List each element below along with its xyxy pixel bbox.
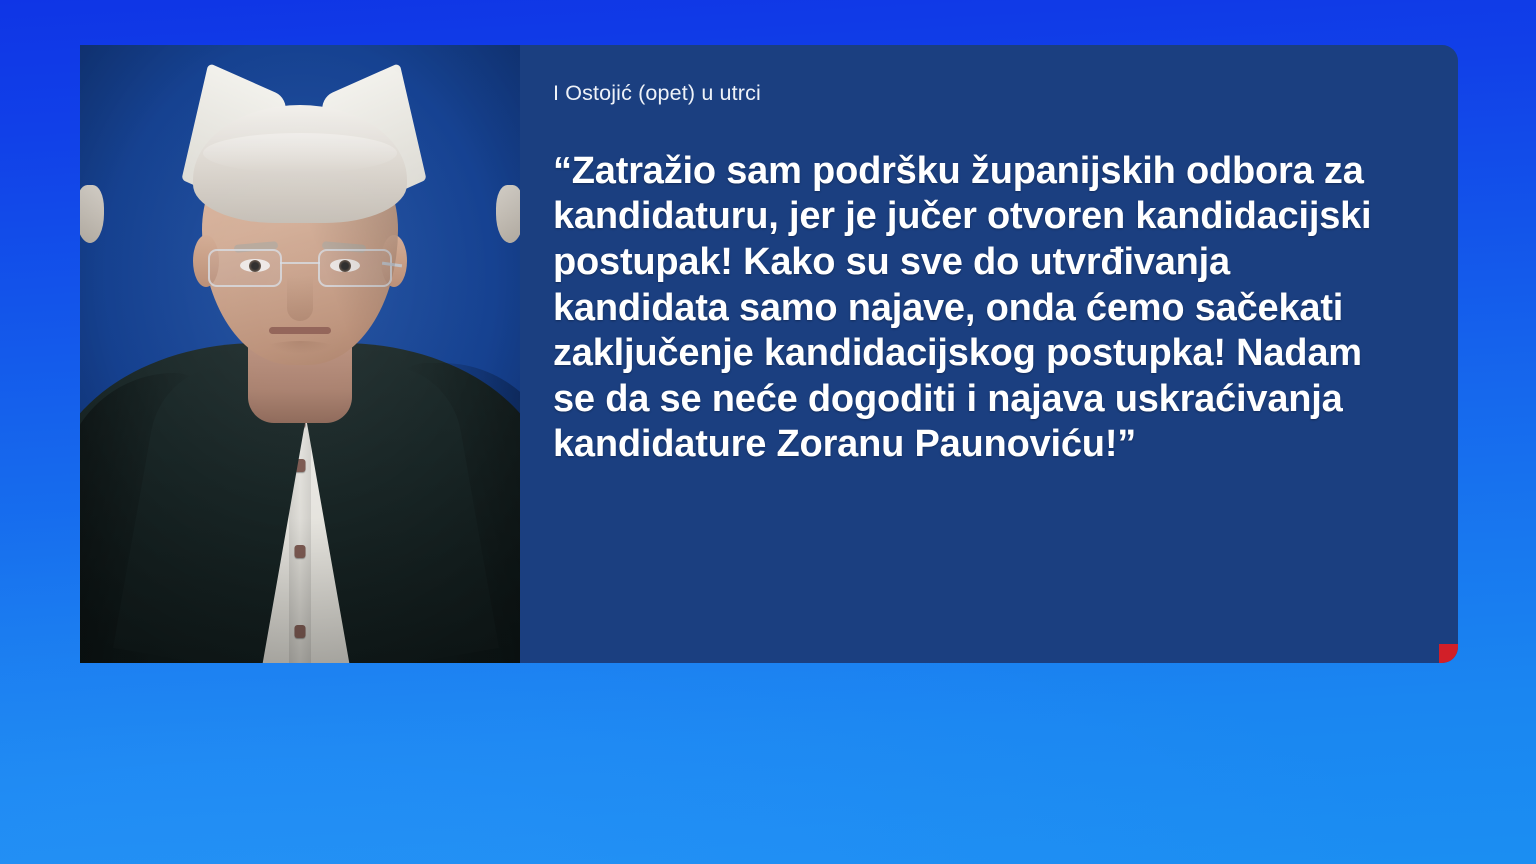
quote-card: I Ostojić (opet) u utrci “Zatražio sam p…: [80, 45, 1458, 663]
kicker-headline: I Ostojić (opet) u utrci: [553, 81, 1386, 107]
red-corner-accent: [1439, 644, 1458, 663]
portrait-photo: [80, 45, 520, 663]
slide-canvas: I Ostojić (opet) u utrci “Zatražio sam p…: [0, 0, 1536, 864]
quote-content: I Ostojić (opet) u utrci “Zatražio sam p…: [520, 45, 1458, 663]
portrait-vignette: [80, 45, 520, 663]
pull-quote: “Zatražio sam podršku županijskih odbora…: [553, 149, 1386, 468]
